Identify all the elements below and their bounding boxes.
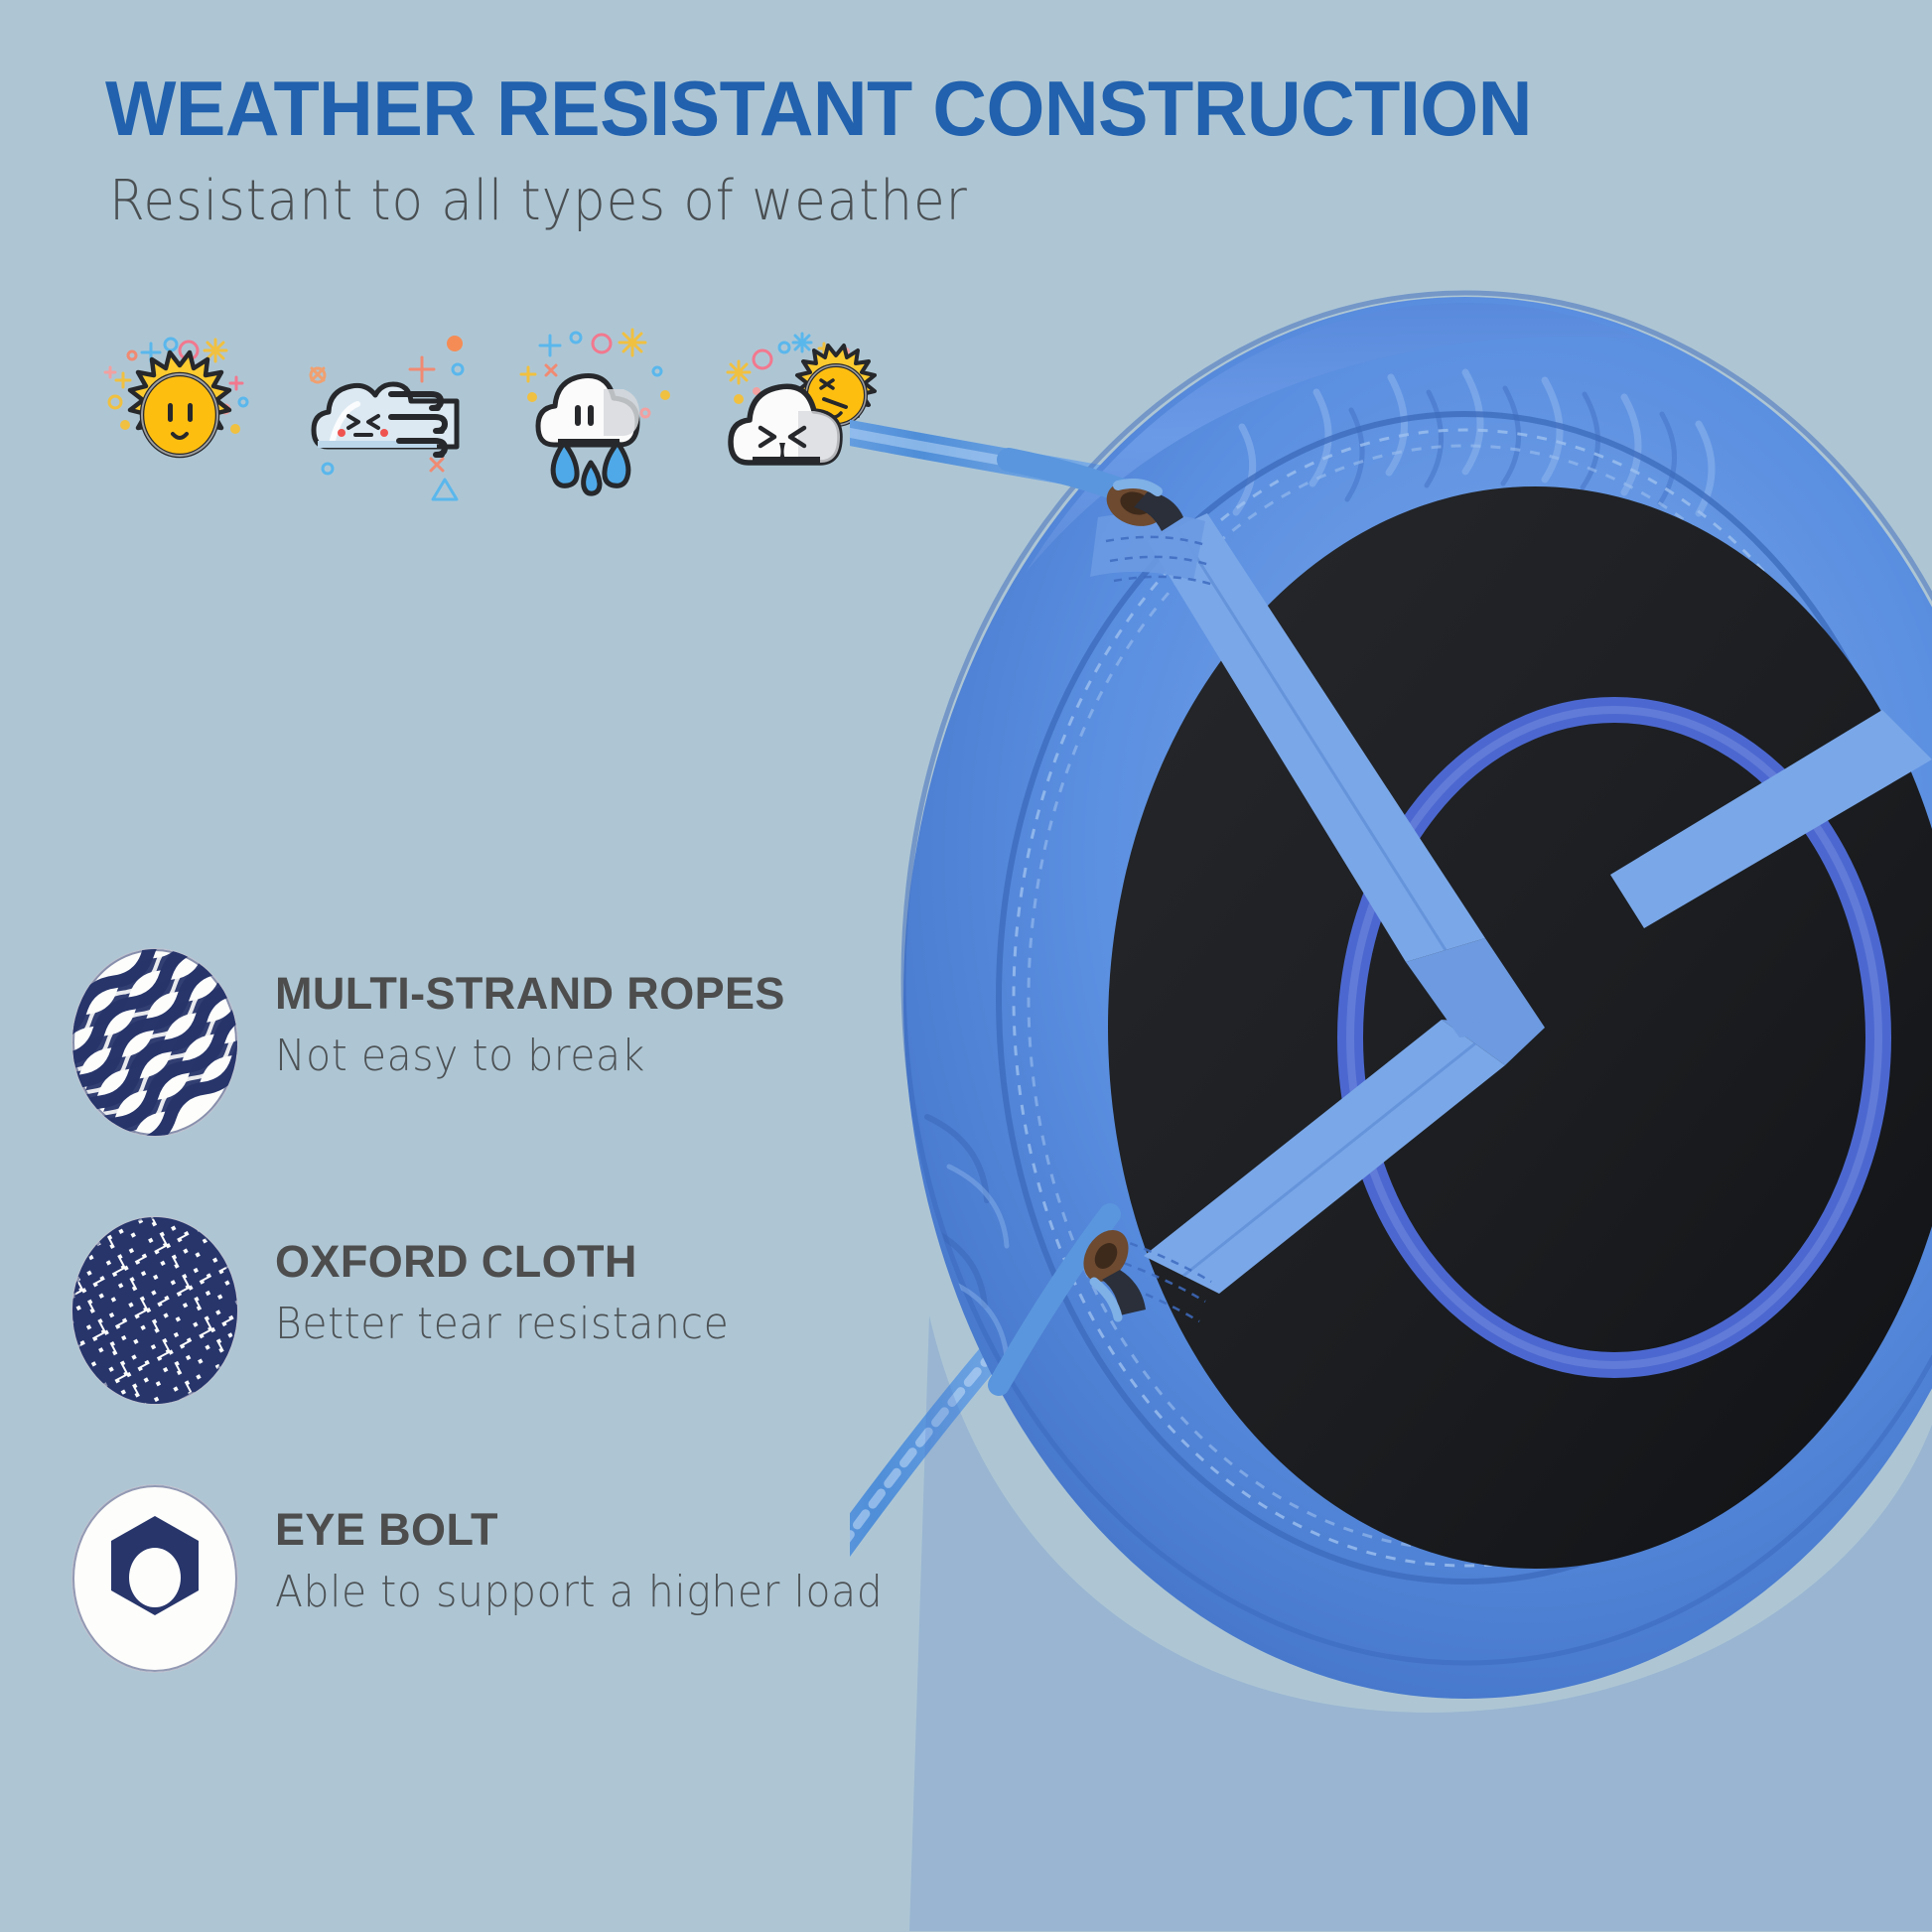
page-subtitle: Resistant to all types of weather (109, 169, 968, 233)
trampoline-saucer-swing-photo (850, 243, 1932, 1931)
windy-cloud-icon (296, 318, 494, 506)
rope-strands-icon (71, 948, 238, 1137)
rainy-cloud-icon (506, 318, 705, 506)
oxford-weave-icon (71, 1216, 238, 1405)
infographic-canvas: WEATHER RESISTANT CONSTRUCTION Resistant… (0, 0, 1932, 1932)
feature-subtitle: Better tear resistance (275, 1299, 921, 1349)
sunny-icon (85, 318, 284, 506)
feature-item-ropes: MULTI-STRAND ROPES Not easy to break (71, 948, 945, 1216)
feature-list: MULTI-STRAND ROPES Not easy to break (71, 948, 945, 1752)
eye-bolt-icon (71, 1484, 238, 1673)
feature-subtitle: Able to support a higher load (275, 1567, 921, 1617)
feature-subtitle: Not easy to break (275, 1031, 921, 1081)
weather-icon-row (85, 318, 979, 506)
page-title: WEATHER RESISTANT CONSTRUCTION (105, 64, 1532, 154)
feature-item-oxford-cloth: OXFORD CLOTH Better tear resistance (71, 1216, 945, 1484)
feature-item-eye-bolt: EYE BOLT Able to support a higher load (71, 1484, 945, 1752)
